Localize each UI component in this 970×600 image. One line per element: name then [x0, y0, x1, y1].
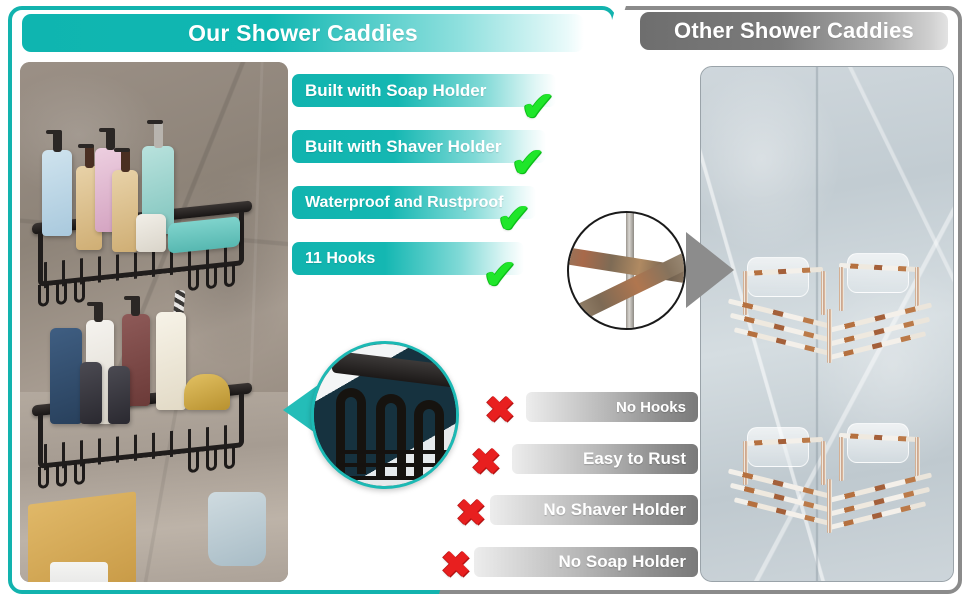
- rusty-caddy-upper: [723, 253, 935, 377]
- rust-wire: [839, 267, 844, 311]
- rusty-caddy-lower: [723, 423, 935, 547]
- hook-icon: [224, 264, 235, 287]
- check-icon: ✔: [507, 142, 549, 184]
- cross-icon: ✖: [481, 391, 519, 429]
- bottle-navy: [50, 328, 82, 424]
- rust-wire: [821, 441, 826, 485]
- cross-icon: ✖: [437, 546, 475, 584]
- drawback-label: Easy to Rust: [583, 449, 686, 469]
- hook-icon: [206, 448, 217, 471]
- hook-icon: [56, 282, 67, 305]
- drawback-bar-no-soap-holder: No Soap Holder: [474, 547, 698, 577]
- rust-wire: [827, 479, 832, 533]
- adhesive-pad: [747, 427, 809, 467]
- rust-detail-magnifier: [567, 211, 686, 330]
- rust-wire: [734, 497, 830, 526]
- rust-wire: [821, 271, 826, 315]
- our-caddies-header: Our Shower Caddies: [22, 14, 584, 52]
- hooks-detail-magnifier: [311, 341, 459, 489]
- dropper-cap: [121, 148, 130, 172]
- pump-nozzle: [94, 302, 103, 322]
- adhesive-pad: [747, 257, 809, 297]
- hook-icon: [74, 280, 85, 303]
- comparison-infographic: Our Shower Caddies: [0, 0, 970, 600]
- pump-nozzle: [154, 120, 163, 148]
- feature-label: Built with Shaver Holder: [305, 137, 501, 157]
- hook-icon: [224, 446, 235, 469]
- bottle-dark-small: [80, 362, 102, 424]
- check-icon: ✔: [479, 254, 521, 296]
- bottle-ivory: [156, 312, 186, 410]
- pump-nozzle: [106, 128, 115, 150]
- drawback-label: No Shaver Holder: [543, 500, 686, 520]
- feature-label: Built with Soap Holder: [305, 81, 486, 101]
- drawback-bar-no-hooks: No Hooks: [526, 392, 698, 422]
- check-icon: ✔: [493, 198, 535, 240]
- hook-icon: [56, 464, 67, 487]
- adhesive-pad: [847, 253, 909, 293]
- hook-icon: [188, 268, 199, 291]
- check-icon: ✔: [517, 86, 559, 128]
- cross-icon: ✖: [452, 494, 490, 532]
- hook-icon: [74, 462, 85, 485]
- hook-icon: [206, 266, 217, 289]
- hook-icon: [38, 284, 49, 307]
- feature-label: Waterproof and Rustproof: [305, 194, 504, 212]
- rust-wire: [830, 331, 926, 360]
- cross-icon: ✖: [467, 443, 505, 481]
- pump-nozzle: [131, 296, 140, 316]
- drawback-bar-no-shaver-holder: No Shaver Holder: [490, 495, 698, 525]
- hook-icon: [38, 466, 49, 489]
- rust-wire: [827, 309, 832, 363]
- rust-wire: [839, 437, 844, 481]
- decor-vase: [208, 492, 266, 566]
- rust-wire: [734, 327, 830, 356]
- other-caddy-photo: [700, 66, 954, 582]
- feature-label: 11 Hooks: [305, 250, 375, 268]
- jar-cream: [136, 214, 166, 252]
- drawback-label: No Soap Holder: [558, 552, 686, 572]
- rust-wire: [830, 501, 926, 530]
- adhesive-pad: [847, 423, 909, 463]
- bottle-dark-small: [108, 366, 130, 424]
- other-caddies-header: Other Shower Caddies: [640, 12, 948, 50]
- drawback-bar-easy-to-rust: Easy to Rust: [512, 444, 698, 474]
- pump-nozzle: [53, 130, 62, 152]
- tissue-roll: [50, 562, 108, 582]
- basket-grid: [340, 448, 448, 480]
- bottle-blue: [42, 150, 72, 236]
- jar-gold: [184, 374, 230, 410]
- our-caddy-photo: [20, 62, 288, 582]
- rust-callout-pointer: [686, 232, 734, 308]
- dropper-cap: [85, 144, 94, 168]
- drawback-label: No Hooks: [616, 399, 686, 416]
- hook-icon: [188, 450, 199, 473]
- bottle-amber: [112, 170, 138, 252]
